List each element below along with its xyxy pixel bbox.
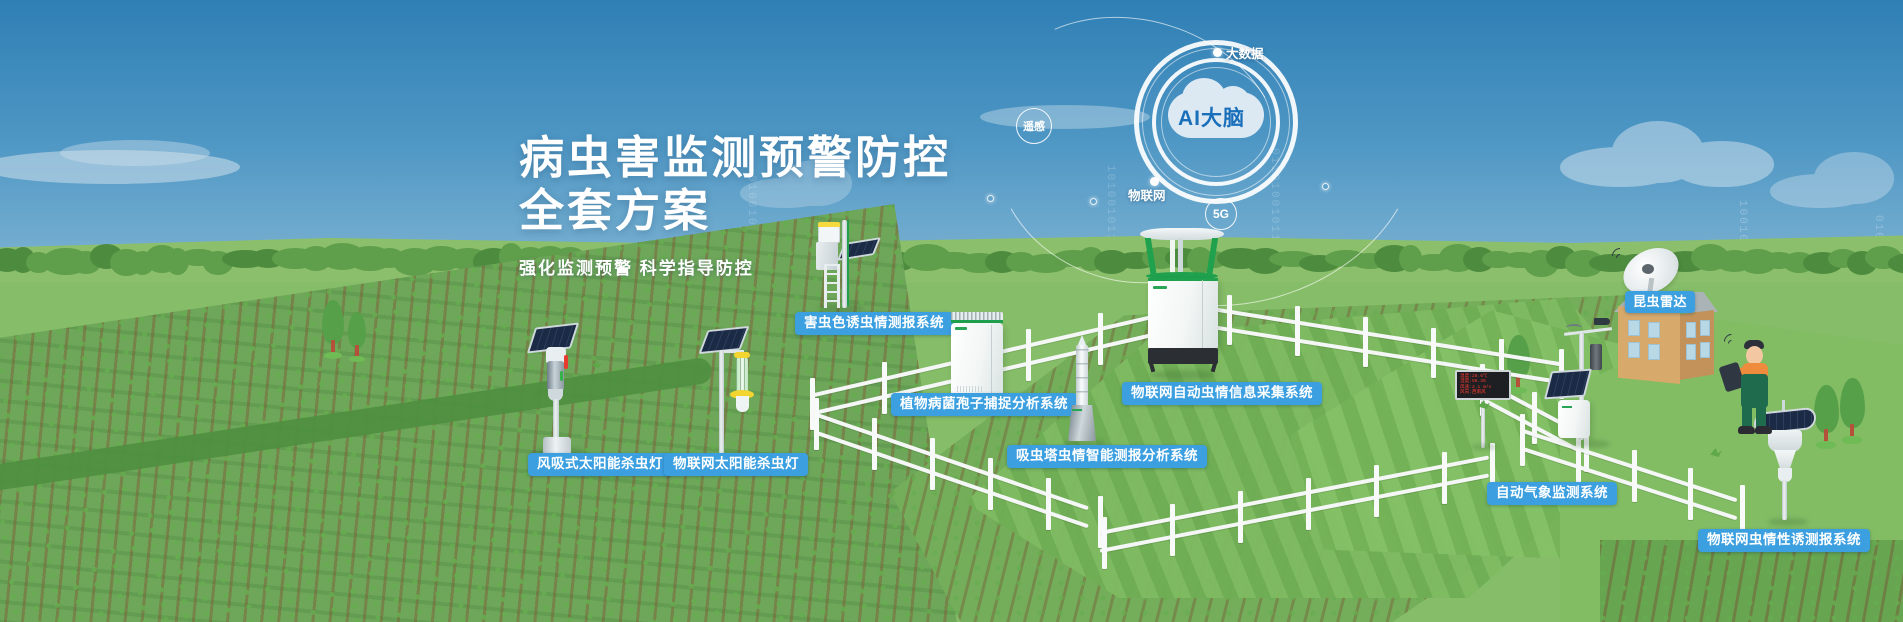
lamp-led-green: [560, 371, 563, 381]
pheromone-funnel: [1774, 450, 1796, 470]
device-shadow: [1768, 518, 1808, 526]
weather-led-display-unit[interactable]: 温度:28.6℃ 湿度:56.3% 风速:2.1 m/s 风向:西南风: [1455, 370, 1525, 450]
spore-cabinet-vent: [957, 386, 983, 392]
tree: [320, 300, 346, 358]
tree-grass: [324, 352, 342, 359]
hub-node-label: 5G: [1213, 207, 1229, 221]
fence-post: [1238, 491, 1243, 543]
color-lure-board: [818, 226, 840, 243]
device-iot-automatic-pest-info-collection-system[interactable]: [1140, 228, 1250, 378]
ai-hub: AI大脑 遥感 5G 大数据 物联网: [1050, 30, 1470, 260]
device-pest-color-lure-forecast-system[interactable]: [812, 220, 902, 310]
tree: [1838, 378, 1868, 448]
fence-post: [1295, 306, 1300, 356]
building-window: [1628, 342, 1640, 358]
collector-frame-left: [1145, 238, 1157, 278]
field-worker: [1720, 330, 1790, 440]
tree: [346, 312, 368, 360]
fence-post: [1632, 450, 1637, 502]
poster-root: 01001011010010110100101101 1010010110100…: [0, 0, 1903, 622]
lamp-tube-grid: [736, 358, 748, 392]
radar-dish-hub: [1642, 264, 1654, 274]
label-iot-automatic-pest-info-collection-system[interactable]: 物联网自动虫情信息采集系统: [1122, 382, 1322, 405]
tree-crown: [1840, 378, 1865, 428]
fence-post: [930, 438, 935, 490]
cloud-shape: [60, 140, 210, 166]
field-fence-bottom-right: [1100, 485, 1500, 605]
collector-cabinet-seam: [1202, 280, 1203, 348]
worker-shoe: [1738, 426, 1755, 434]
tower-ladder: [824, 264, 840, 308]
fence-post: [1170, 504, 1175, 556]
label-wind-suction-solar-insect-lamp[interactable]: 风吸式太阳能杀虫灯: [528, 453, 672, 476]
lamp-led-red: [564, 355, 568, 369]
collector-cabinet-logo: [1153, 286, 1167, 289]
building-window: [1686, 344, 1696, 360]
device-suction-tower-intelligent-forecast-analysis-system[interactable]: [1055, 335, 1125, 445]
fence-post: [1431, 328, 1436, 378]
label-automatic-weather-monitoring-system[interactable]: 自动气象监测系统: [1487, 482, 1617, 505]
cloud-cluster: [1770, 150, 1903, 210]
worker-leg: [1756, 404, 1766, 428]
building-window: [1628, 320, 1640, 336]
tower-green-stripe: [847, 220, 849, 306]
hub-node-label-big-data: 大数据: [1226, 43, 1264, 62]
hub-node-label: 遥感: [1023, 118, 1045, 134]
building-window: [1700, 342, 1710, 358]
suction-tower-rings: [1075, 349, 1089, 405]
cloud-cluster: [1560, 115, 1780, 185]
fence-post: [1363, 317, 1368, 367]
collector-frame-right: [1206, 238, 1218, 278]
weather-cabinet-logo: [1562, 406, 1572, 408]
fence-post: [1688, 468, 1693, 520]
lamp-pole: [719, 350, 724, 458]
crop-texture: [1600, 540, 1903, 622]
fence-post: [1306, 478, 1311, 530]
fence-post: [1442, 452, 1447, 504]
spore-cabinet-logo: [955, 327, 967, 330]
solar-panel: [1544, 369, 1592, 400]
label-plant-pathogen-spore-capture-analysis-system[interactable]: 植物病菌孢子捕捉分析系统: [891, 393, 1077, 416]
device-shadow: [1150, 370, 1216, 380]
led-display-screen: 温度:28.6℃ 湿度:56.3% 风速:2.1 m/s 风向:西南风: [1455, 370, 1511, 400]
building-window: [1648, 322, 1660, 338]
worker-shoe: [1755, 426, 1772, 434]
right-crop-strip: [1600, 540, 1903, 622]
collector-lamp-tube: [1170, 240, 1175, 276]
fence-post: [1374, 465, 1379, 517]
spore-cabinet-top: [951, 312, 1003, 320]
tree-crown: [348, 312, 366, 348]
wifi-icon: [1724, 330, 1744, 346]
hub-endpoint-dot: [1090, 198, 1097, 205]
hub-node-5g[interactable]: 5G: [1205, 198, 1237, 230]
tree-grass: [1842, 436, 1862, 444]
lamp-collect-cup: [736, 396, 749, 412]
device-shadow: [1570, 440, 1610, 448]
title-line-2: 全套方案: [519, 185, 711, 236]
led-line: 风向:西南风: [1460, 390, 1506, 395]
tree-crown: [322, 300, 344, 344]
fence-post: [1102, 517, 1107, 569]
fence-post: [988, 458, 993, 510]
tree-grass: [349, 356, 365, 362]
label-suction-tower-intelligent-forecast-analysis-system[interactable]: 吸虫塔虫情智能测报分析系统: [1007, 445, 1207, 468]
pheromone-pole: [1782, 480, 1787, 520]
building-window: [1648, 344, 1660, 360]
hub-endpoint-dot: [987, 195, 994, 202]
hub-node-dot-big-data[interactable]: [1213, 48, 1222, 57]
lamp-pole: [553, 399, 559, 441]
label-iot-solar-insect-lamp[interactable]: 物联网太阳能杀虫灯: [664, 453, 808, 476]
collector-base: [1148, 348, 1218, 364]
label-insect-radar[interactable]: 昆虫雷达: [1625, 291, 1695, 313]
worker-leg: [1742, 404, 1752, 428]
color-lure-strip: [818, 222, 840, 227]
hub-node-remote-sensing[interactable]: 遥感: [1016, 108, 1052, 144]
spore-cabinet-door-line: [991, 325, 992, 399]
device-wind-suction-solar-insect-lamp[interactable]: [528, 325, 608, 455]
collector-cabinet-accent: [1148, 278, 1218, 281]
device-iot-solar-insect-lamp[interactable]: [700, 328, 770, 466]
worker-overalls: [1741, 374, 1768, 408]
device-shadow: [1471, 444, 1497, 450]
building-window: [1700, 320, 1710, 336]
building-window: [1686, 322, 1696, 338]
label-iot-pest-pheromone-lure-forecast-system[interactable]: 物联网虫情性诱测报系统: [1698, 529, 1870, 552]
hub-endpoint-dot: [1322, 183, 1329, 190]
title-line-1: 病虫害监测预警防控: [519, 132, 951, 183]
fence-rail: [1100, 473, 1489, 552]
fence-post: [814, 398, 819, 450]
suction-tower-logo: [1072, 409, 1082, 411]
hub-node-label-iot: 物联网: [1128, 185, 1166, 204]
fence-post: [1046, 478, 1051, 530]
label-pest-color-lure-forecast-system[interactable]: 害虫色诱虫情测报系统: [795, 312, 953, 335]
fence-post: [872, 418, 877, 470]
